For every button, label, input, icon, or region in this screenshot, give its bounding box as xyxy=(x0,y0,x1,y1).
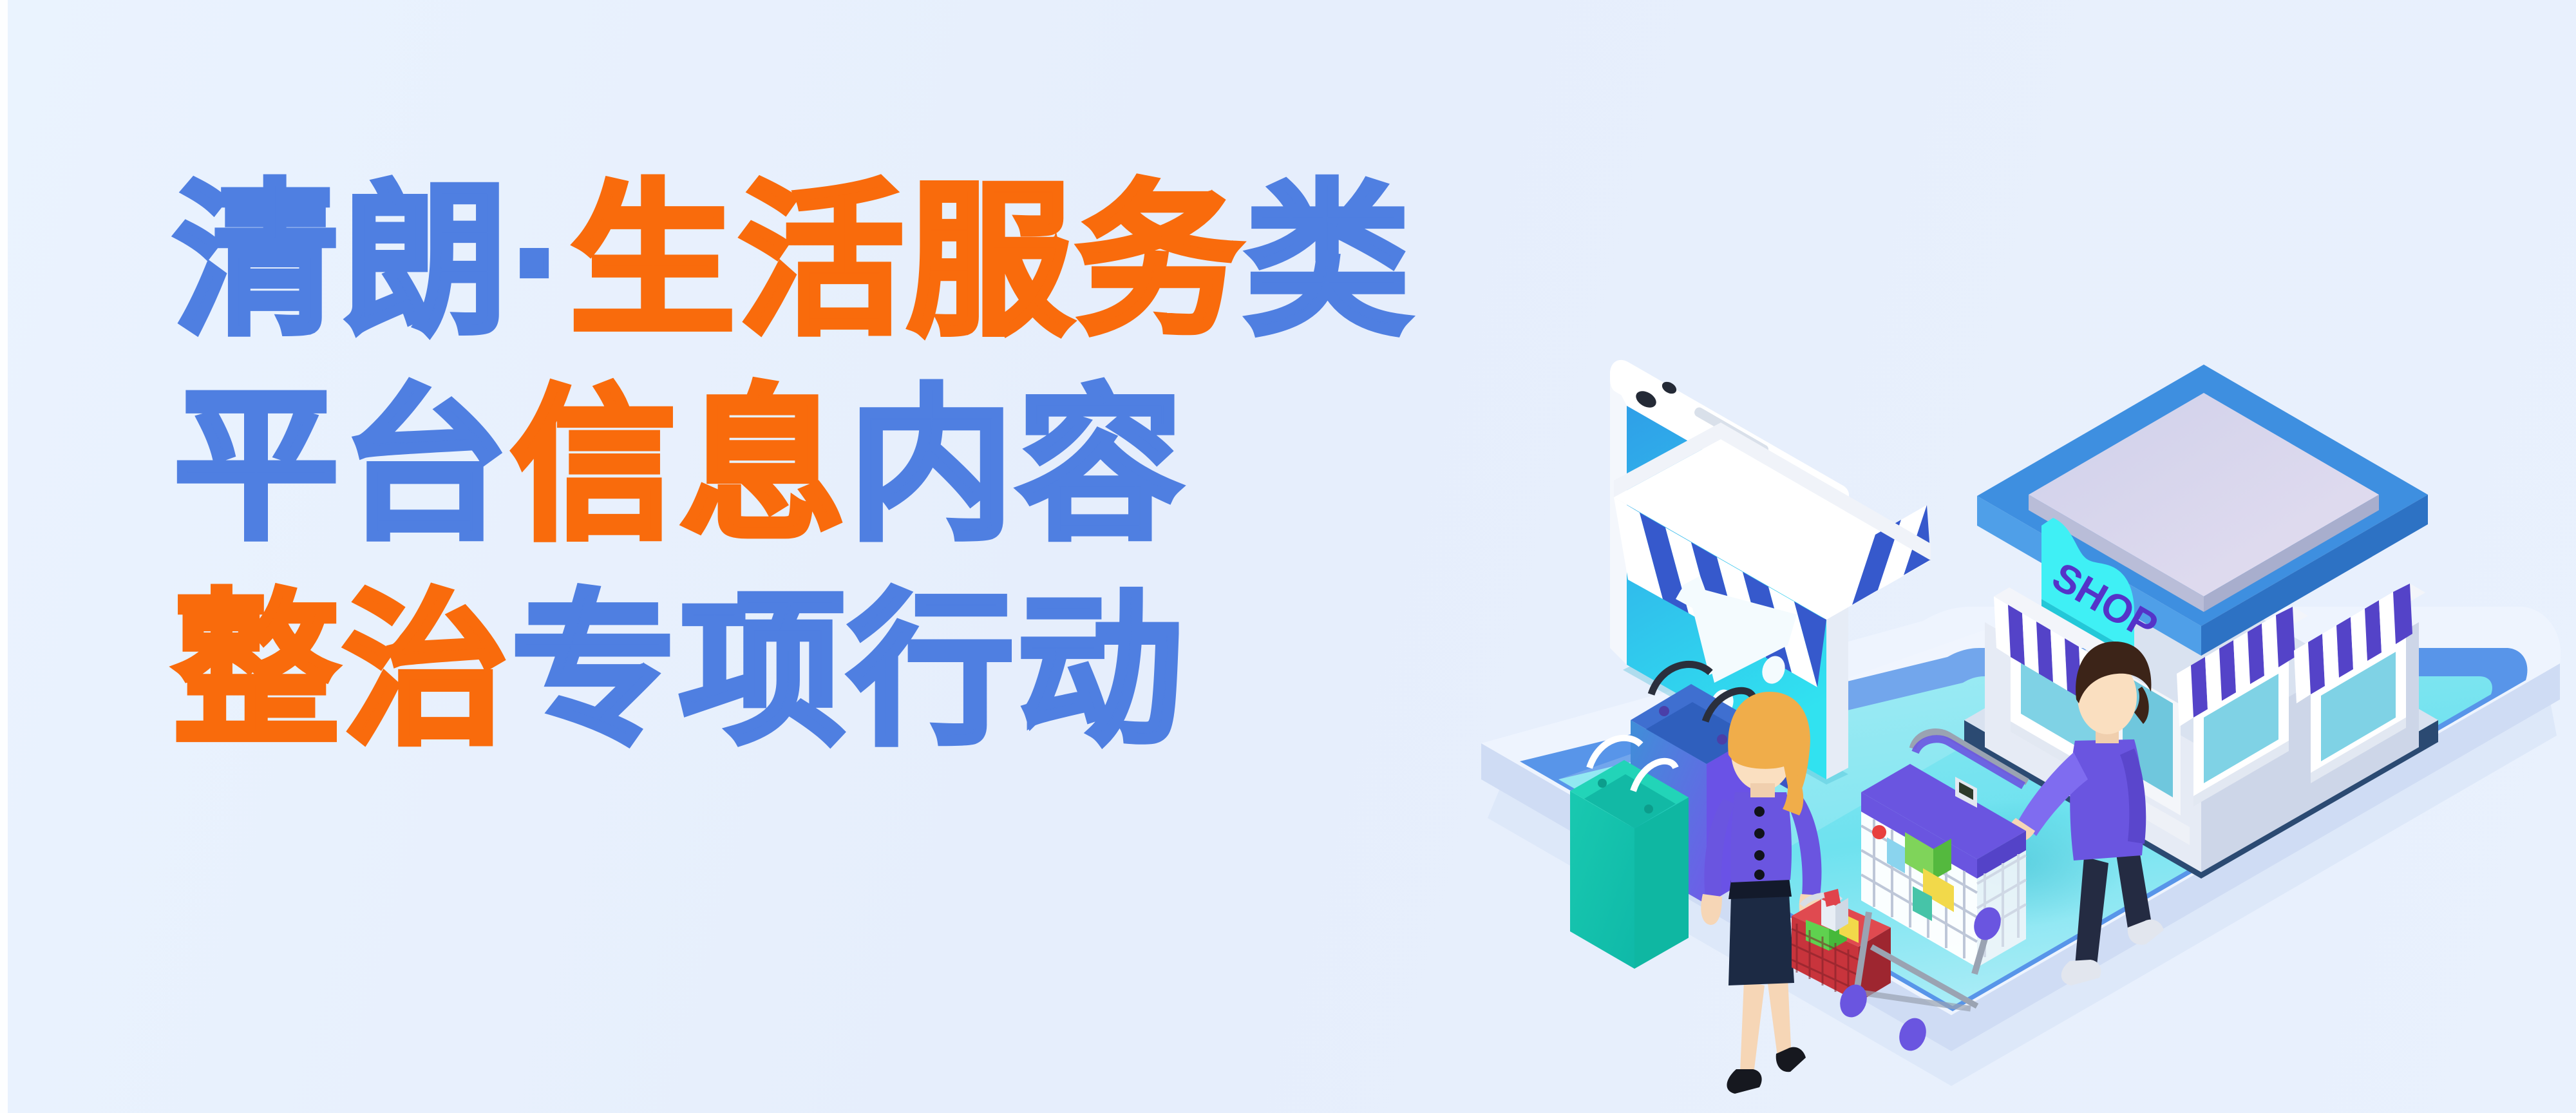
headline-line-1: 清朗·生活服务类 xyxy=(174,179,1655,344)
headline-line-2: 平台信息内容 xyxy=(174,384,1655,549)
headline-block: 清朗·生活服务类 平台信息内容 整治专项行动 xyxy=(174,179,1655,754)
headline-line-2-seg-1: 平台 xyxy=(174,374,511,558)
headline-line-3-seg-1: 整治 xyxy=(174,579,511,763)
headline-line-3: 整治专项行动 xyxy=(174,589,1655,754)
headline-line-1-seg-3: 类 xyxy=(1245,169,1414,354)
left-edge-strip xyxy=(0,0,8,1113)
headline-line-3-seg-2: 专项行动 xyxy=(511,579,1186,763)
headline-line-2-seg-2: 信息 xyxy=(511,374,849,558)
isometric-shopping-illustration: SHOP xyxy=(1462,213,2570,1113)
headline-line-1-seg-2: 生活服务 xyxy=(570,169,1245,354)
banner-root: 清朗·生活服务类 平台信息内容 整治专项行动 xyxy=(0,0,2576,1113)
headline-line-1-seg-1: 清朗· xyxy=(174,169,570,354)
headline-line-2-seg-3: 内容 xyxy=(849,374,1186,558)
